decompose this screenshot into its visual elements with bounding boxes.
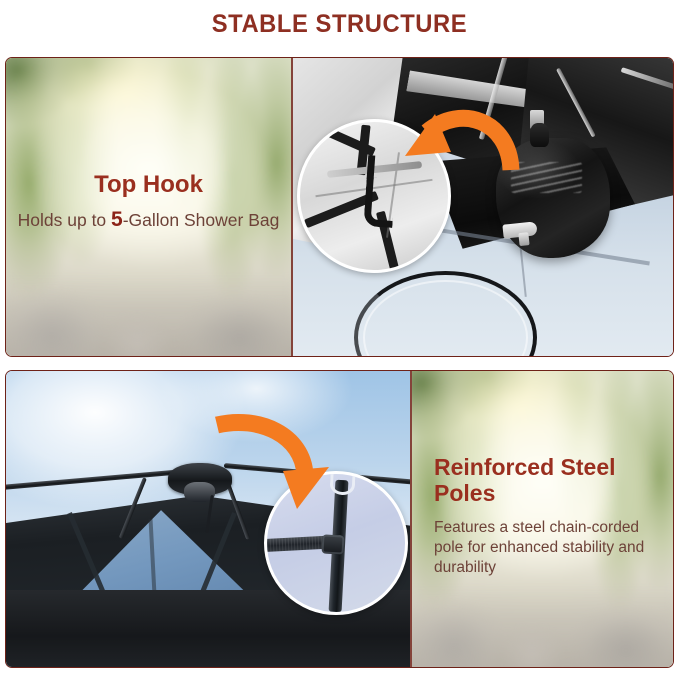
shower-bag-print	[511, 162, 582, 193]
feature-row-steel-poles: Tent roof seen from inside against blue …	[5, 370, 674, 668]
top-hook-heading: Top Hook	[94, 172, 203, 199]
top-hook-capacity-value: 5	[111, 208, 123, 231]
page-title-text: STABLE STRUCTURE	[212, 10, 467, 39]
feature-row-top-hook: Top Hook Holds up to 5-Gallon Shower Bag…	[5, 57, 674, 357]
steel-poles-text-panel: Reinforced SteelPoles Features a steel c…	[412, 371, 673, 667]
steel-poles-body: Features a steel chain-corded pole for e…	[434, 518, 659, 577]
top-hook-arrow-icon	[389, 98, 519, 208]
top-hook-subtitle: Holds up to 5-Gallon Shower Bag	[18, 208, 280, 232]
page-title: STABLE STRUCTURE	[0, 0, 679, 48]
top-hook-subtitle-suffix: -Gallon Shower Bag	[123, 210, 280, 230]
steel-poles-heading-line1: Reinforced Steel	[434, 454, 616, 480]
top-hook-subtitle-prefix: Holds up to	[18, 210, 111, 230]
pole-strap-buckle	[322, 534, 345, 554]
steel-poles-heading-line2: Poles	[434, 480, 495, 506]
top-hook-text-panel: Top Hook Holds up to 5-Gallon Shower Bag	[6, 58, 291, 356]
tent-roof-photo: Tent roof seen from inside against blue …	[6, 371, 410, 667]
shower-bag-nozzle	[502, 221, 537, 239]
shower-bag-neck	[530, 123, 548, 147]
tent-interior-photo: Tent interior with black 5-gallon shower…	[293, 58, 673, 356]
infographic-page: STABLE STRUCTURE Top Hook Holds up to 5-…	[0, 0, 679, 673]
steel-poles-arrow-icon	[211, 409, 341, 519]
steel-poles-heading: Reinforced SteelPoles	[434, 455, 616, 507]
